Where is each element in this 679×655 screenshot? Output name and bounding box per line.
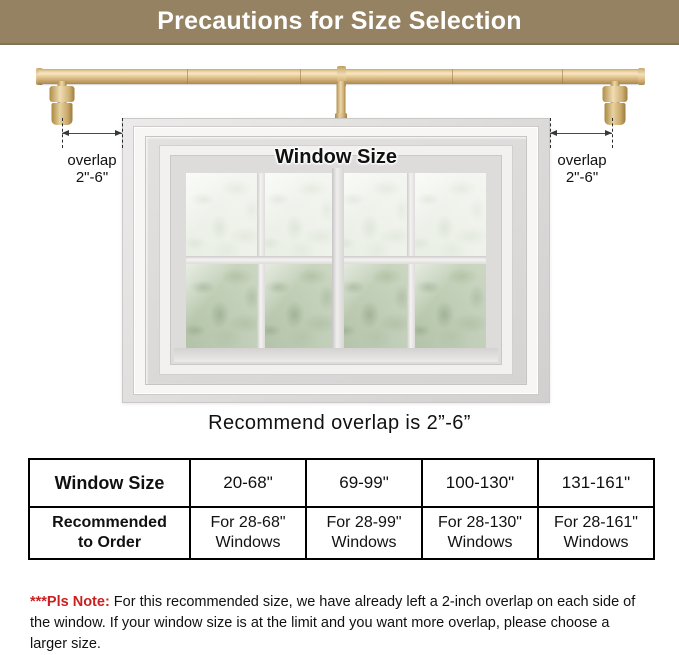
dimension-arrow-left-end [115, 130, 122, 136]
rod-seam-right [562, 69, 563, 84]
curtain-rod-illustration [0, 45, 679, 125]
window-pane [261, 261, 336, 349]
size-recommendation-table: Window Size 20-68" 69-99" 100-130" 131-1… [28, 458, 655, 560]
bracket-plate [605, 103, 626, 125]
row-label-line2: to Order [32, 533, 187, 553]
cell-line2: Windows [309, 533, 419, 553]
dimension-arrow-left-start [62, 130, 69, 136]
note-prefix: ***Pls Note: [30, 594, 110, 610]
bracket-shoe [603, 86, 628, 102]
table-row: Recommended to Order For 28-68" Windows … [29, 507, 654, 559]
table-row-label-recommended-to-order: Recommended to Order [29, 507, 190, 559]
rod-seam-mid-left [300, 69, 301, 84]
note-body: For this recommended size, we have alrea… [30, 594, 635, 652]
extension-line-right-outer [612, 118, 613, 148]
page-title: Precautions for Size Selection [157, 7, 521, 36]
window-pane [411, 173, 486, 261]
bracket-shoe [50, 86, 75, 102]
dimension-arrow-right-start [550, 130, 557, 136]
cell-line1: For 28-130" [425, 513, 535, 533]
cell-line2: Windows [541, 533, 651, 553]
table-cell-window-size-2: 69-99" [306, 459, 422, 507]
window-sill [174, 348, 498, 362]
table-cell-recommended-4: For 28-161" Windows [538, 507, 654, 559]
header-banner: Precautions for Size Selection [0, 0, 679, 45]
dimension-line-right [550, 133, 612, 134]
dimension-line-left [62, 133, 122, 134]
rod-end-cap-right [638, 68, 645, 85]
cell-line1: For 28-161" [541, 513, 651, 533]
table-row-label-window-size: Window Size [29, 459, 190, 507]
table-cell-window-size-1: 20-68" [190, 459, 306, 507]
recommend-overlap-text: Recommend overlap is 2”-6” [0, 412, 679, 435]
cell-line2: Windows [193, 533, 303, 553]
table-cell-recommended-1: For 28-68" Windows [190, 507, 306, 559]
dimension-arrow-right-end [605, 130, 612, 136]
window-pane [336, 173, 411, 261]
table-cell-window-size-4: 131-161" [538, 459, 654, 507]
overlap-label-left-line2: 2"-6" [37, 169, 147, 186]
cell-line1: For 28-99" [309, 513, 419, 533]
cell-line1: For 28-68" [193, 513, 303, 533]
extension-line-left-inner [122, 118, 123, 148]
window-pane [186, 173, 261, 261]
rod-seam-left [187, 69, 188, 84]
window-pane [411, 261, 486, 349]
row-label-line1: Recommended [32, 513, 187, 533]
note-block: ***Pls Note: For this recommended size, … [30, 592, 650, 655]
overlap-label-right-line2: 2"-6" [527, 169, 637, 186]
rod-seam-mid-right [452, 69, 453, 84]
table-cell-recommended-3: For 28-130" Windows [422, 507, 538, 559]
table-cell-window-size-3: 100-130" [422, 459, 538, 507]
window-size-label: Window Size [122, 146, 550, 169]
window-pane [186, 261, 261, 349]
window-pane [336, 261, 411, 349]
window-pane [261, 173, 336, 261]
cell-line2: Windows [425, 533, 535, 553]
table-cell-recommended-2: For 28-99" Windows [306, 507, 422, 559]
table-row: Window Size 20-68" 69-99" 100-130" 131-1… [29, 459, 654, 507]
window-meeting-rail [332, 168, 344, 353]
